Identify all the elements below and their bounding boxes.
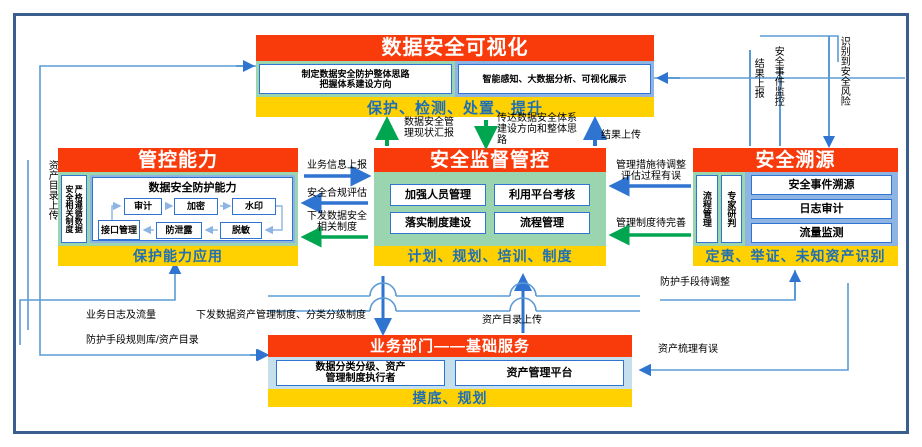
business-right-box[interactable]: 资产管理平台 [455, 360, 624, 386]
panel-footer-visualization: 保护、检测、处置、提升 [256, 97, 654, 117]
diagram-canvas: 数据安全可视化 制定数据安全防护整体思路 把握体系建设方向 智能感知、大数据分析… [0, 0, 922, 447]
label-asset-inventory-error: 资产梳理有误 [658, 344, 718, 355]
panel-data-security-visualization: 数据安全可视化 制定数据安全防护整体思路 把握体系建设方向 智能感知、大数据分析… [256, 35, 654, 117]
traceability-expert-judgement-label: 专家研判 [726, 191, 736, 227]
panel-control-capability: 管控能力 安全相关制度 严格遵循数据 数据安全防护能力 接口管理 审计 加密 水… [58, 148, 298, 266]
panel-footer-supervision: 计划、规划、培训、制度 [374, 246, 606, 266]
supervision-item-process-management[interactable]: 流程管理 [494, 212, 590, 234]
traceability-item-log-audit[interactable]: 日志审计 [751, 199, 892, 219]
control-body: 安全相关制度 严格遵循数据 数据安全防护能力 接口管理 审计 加密 水印 防泄露… [58, 172, 298, 246]
label-issue-asset-mgmt-policies: 下发数据资产管理制度、分类分级制度 [196, 310, 366, 321]
visualization-left-box[interactable]: 制定数据安全防护整体思路 把握体系建设方向 [259, 64, 452, 94]
traceability-side-region: 流程管理 专家研判 [693, 172, 745, 246]
traceability-process-management-label: 流程管理 [702, 191, 712, 227]
control-side-note-col1: 安全相关制度 [65, 185, 74, 233]
business-body: 数据分类分级、资产 管理制度执行者 资产管理平台 [268, 357, 632, 389]
label-issue-security-policies: 下发数据安全 相关制度 [300, 211, 374, 233]
label-result-upload-center: 结果上传 [601, 130, 647, 141]
control-inner-region: 数据安全防护能力 接口管理 审计 加密 水印 防泄露 脱敏 [90, 175, 295, 243]
label-asset-catalog-upload-left: 资产目录上传 [46, 160, 57, 220]
traceability-item-event-tracing[interactable]: 安全事件溯源 [751, 175, 892, 195]
label-protection-needs-adjust: 防护手段待调整 [660, 277, 730, 288]
data-security-protection-capability-box: 数据安全防护能力 接口管理 审计 加密 水印 防泄露 脱敏 [92, 177, 293, 241]
business-left-box[interactable]: 数据分类分级、资产 管理制度执行者 [276, 360, 445, 386]
panel-header-business: 业务部门——基础服务 [268, 335, 632, 357]
label-security-event-monitoring: 安全事件监控 [772, 46, 783, 106]
traceability-process-management[interactable]: 流程管理 [696, 175, 718, 243]
visualization-right-region: 智能感知、大数据分析、可视化展示 [455, 61, 654, 97]
label-identified-security-risk: 识别到安全风险 [838, 36, 849, 106]
panel-header-supervision: 安全监督管控 [374, 148, 606, 172]
label-result-report-vertical: 结果上报 [752, 58, 763, 98]
supervision-item-system-construction[interactable]: 落实制度建设 [390, 212, 486, 234]
supervision-body: 加强人员管理 利用平台考核 落实制度建设 流程管理 [374, 172, 606, 246]
panel-header-traceability: 安全溯源 [693, 148, 898, 172]
visualization-left-region: 制定数据安全防护整体思路 把握体系建设方向 [256, 61, 455, 97]
label-business-logs-traffic: 业务日志及流量 [86, 310, 156, 321]
label-system-needs-improve: 管理制度待完善 [610, 218, 692, 229]
protection-capability-title: 数据安全防护能力 [93, 179, 292, 195]
label-measures-need-adjust: 管理措施待调整 评估过程有误 [610, 160, 692, 182]
capability-flow-arrows [98, 198, 284, 240]
label-business-info-report: 业务信息上报 [302, 160, 372, 171]
supervision-item-platform-assessment[interactable]: 利用平台考核 [494, 184, 590, 206]
panel-footer-control: 保护能力应用 [58, 246, 298, 266]
label-convey-direction: 传达数据安全体系 建设方向和整体思 路 [497, 113, 592, 147]
panel-security-traceability: 安全溯源 流程管理 专家研判 安全事件溯源 日志审计 流量监测 定责、举证、未知… [693, 148, 898, 266]
panel-header-control: 管控能力 [58, 148, 298, 172]
supervision-item-personnel-management[interactable]: 加强人员管理 [390, 184, 486, 206]
panel-footer-traceability: 定责、举证、未知资产识别 [693, 246, 898, 266]
panel-header-visualization: 数据安全可视化 [256, 35, 654, 61]
traceability-items-region: 安全事件溯源 日志审计 流量监测 [745, 172, 898, 246]
label-protection-rulebase-catalog: 防护手段规则库/资产目录 [86, 335, 199, 346]
visualization-right-box[interactable]: 智能感知、大数据分析、可视化展示 [458, 64, 651, 94]
panel-business-department: 业务部门——基础服务 数据分类分级、资产 管理制度执行者 资产管理平台 摸底、规… [268, 335, 632, 407]
control-side-note: 安全相关制度 严格遵循数据 [61, 175, 87, 243]
panel-security-supervision: 安全监督管控 加强人员管理 利用平台考核 落实制度建设 流程管理 计划、规划、培… [374, 148, 606, 266]
label-asset-catalog-upload-center: 资产目录上传 [482, 315, 542, 326]
control-side-note-col2: 严格遵循数据 [74, 185, 83, 233]
traceability-item-traffic-monitoring[interactable]: 流量监测 [751, 223, 892, 243]
label-security-compliance-assessment: 安全合规评估 [302, 188, 372, 199]
label-security-status-report: 数据安全管 理现状汇报 [404, 117, 466, 139]
traceability-expert-judgement[interactable]: 专家研判 [721, 175, 743, 243]
panel-footer-business: 摸底、规划 [268, 389, 632, 407]
